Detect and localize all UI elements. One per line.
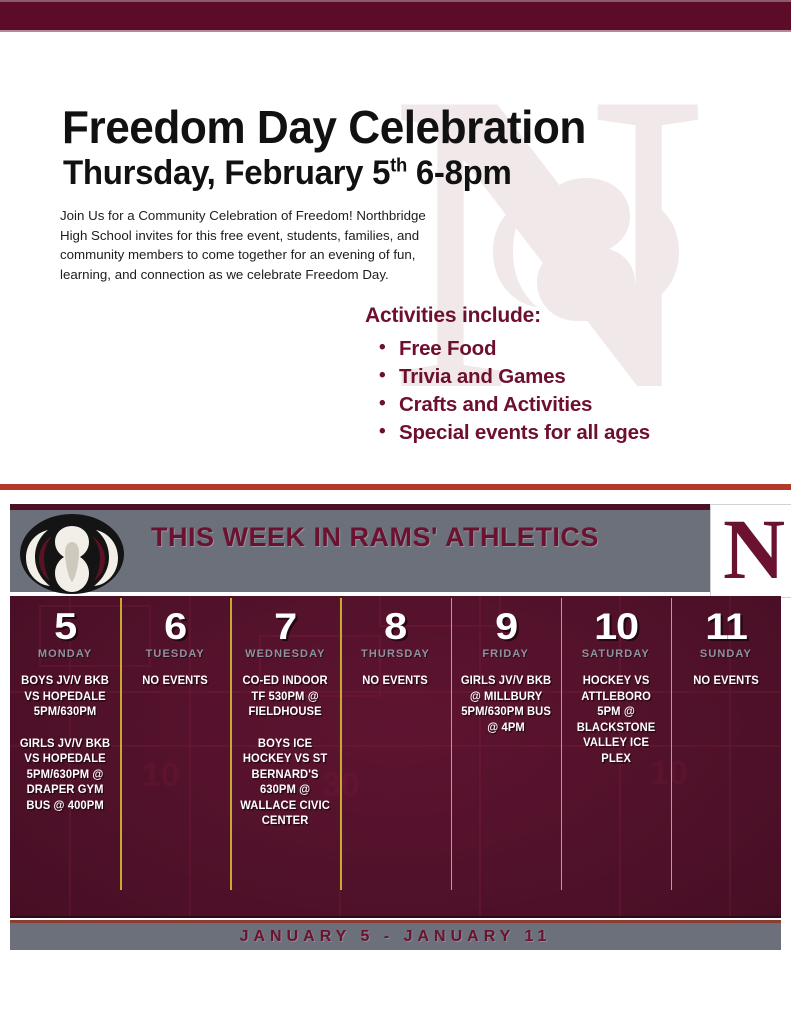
day-events: CO-ED INDOOR TF 530PM @ FIELDHOUSE BOYS … — [235, 673, 335, 829]
activity-item: Free Food — [379, 335, 650, 363]
flyer-section: N Freedom Day Celebration Thursday, Febr… — [0, 32, 791, 484]
day-column-thursday: 8 THURSDAY NO EVENTS — [340, 596, 450, 916]
event-entry: HOCKEY VS ATTLEBORO 5PM @ BLACKSTONE VAL… — [570, 673, 662, 766]
weekly-schedule-grid: 10 30 10 5 MONDAY BOYS JV/V BKB VS HOPED… — [10, 596, 781, 918]
day-column-friday: 9 FRIDAY GIRLS JV/V BKB @ MILLBURY 5PM/6… — [451, 596, 561, 916]
day-column-tuesday: 6 TUESDAY NO EVENTS — [120, 596, 230, 916]
ram-head-icon — [18, 512, 126, 596]
event-entry: CO-ED INDOOR TF 530PM @ FIELDHOUSE — [239, 673, 331, 720]
schedule-date-range-bar: JANUARY 5 - JANUARY 11 — [10, 920, 781, 950]
event-entry: GIRLS JV/V BKB @ MILLBURY 5PM/630PM BUS … — [460, 673, 552, 735]
day-name: MONDAY — [15, 647, 115, 662]
day-name: THURSDAY — [345, 647, 445, 662]
day-events: NO EVENTS — [125, 673, 225, 689]
day-number: 5 — [10, 608, 121, 646]
flyer-subtitle-date: Thursday, February 5 — [63, 154, 390, 192]
day-events: BOYS JV/V BKB VS HOPEDALE 5PM/630PM GIRL… — [15, 673, 115, 813]
poster-page: N Freedom Day Celebration Thursday, Febr… — [0, 0, 791, 1024]
day-number: 7 — [229, 608, 341, 646]
athletics-section: THIS WEEK IN RAMS' ATHLETICS N — [0, 496, 791, 966]
day-number: 10 — [560, 608, 672, 646]
day-columns: 5 MONDAY BOYS JV/V BKB VS HOPEDALE 5PM/6… — [10, 596, 781, 916]
date-range-label: JANUARY 5 - JANUARY 11 — [240, 928, 552, 946]
school-n-logo: N — [710, 504, 791, 598]
event-entry: NO EVENTS — [680, 673, 772, 689]
day-events: HOCKEY VS ATTLEBORO 5PM @ BLACKSTONE VAL… — [566, 673, 666, 766]
flyer-title: Freedom Day Celebration — [62, 100, 586, 154]
day-name: SUNDAY — [676, 647, 776, 662]
day-number: 11 — [670, 608, 781, 646]
activity-item: Crafts and Activities — [379, 391, 650, 419]
event-entry: NO EVENTS — [349, 673, 441, 689]
day-name: SATURDAY — [566, 647, 666, 662]
school-n-letter: N — [711, 501, 791, 597]
day-column-saturday: 10 SATURDAY HOCKEY VS ATTLEBORO 5PM @ BL… — [561, 596, 671, 916]
day-number: 8 — [339, 608, 451, 646]
day-events: NO EVENTS — [345, 673, 445, 689]
day-events: NO EVENTS — [676, 673, 776, 689]
day-number: 9 — [450, 608, 562, 646]
flyer-subtitle: Thursday, February 5th 6-8pm — [63, 154, 512, 193]
top-accent-bar — [0, 0, 791, 32]
day-column-monday: 5 MONDAY BOYS JV/V BKB VS HOPEDALE 5PM/6… — [10, 596, 120, 916]
activities-block: Activities include: Free Food Trivia and… — [365, 304, 650, 447]
day-events: GIRLS JV/V BKB @ MILLBURY 5PM/630PM BUS … — [456, 673, 556, 735]
flyer-subtitle-ordinal: th — [390, 156, 407, 177]
day-name: TUESDAY — [125, 647, 225, 662]
event-entry: NO EVENTS — [129, 673, 221, 689]
activities-heading: Activities include: — [365, 304, 650, 328]
day-name: FRIDAY — [456, 647, 556, 662]
day-column-wednesday: 7 WEDNESDAY CO-ED INDOOR TF 530PM @ FIEL… — [230, 596, 340, 916]
day-column-sunday: 11 SUNDAY NO EVENTS — [671, 596, 781, 916]
event-entry: GIRLS JV/V BKB VS HOPEDALE 5PM/630PM @ D… — [19, 736, 111, 814]
event-entry: BOYS JV/V BKB VS HOPEDALE 5PM/630PM — [19, 673, 111, 720]
section-divider — [0, 484, 791, 490]
athletics-banner: THIS WEEK IN RAMS' ATHLETICS N — [10, 504, 781, 592]
activity-item: Trivia and Games — [379, 363, 650, 391]
flyer-subtitle-time: 6-8pm — [416, 154, 512, 192]
day-number: 6 — [119, 608, 231, 646]
day-name: WEDNESDAY — [235, 647, 335, 662]
activity-item: Special events for all ages — [379, 419, 650, 447]
banner-title: THIS WEEK IN RAMS' ATHLETICS — [140, 522, 610, 553]
activities-list: Free Food Trivia and Games Crafts and Ac… — [379, 335, 650, 447]
flyer-body-text: Join Us for a Community Celebration of F… — [60, 206, 442, 284]
event-entry: BOYS ICE HOCKEY VS ST BERNARD'S 630PM @ … — [239, 736, 331, 829]
